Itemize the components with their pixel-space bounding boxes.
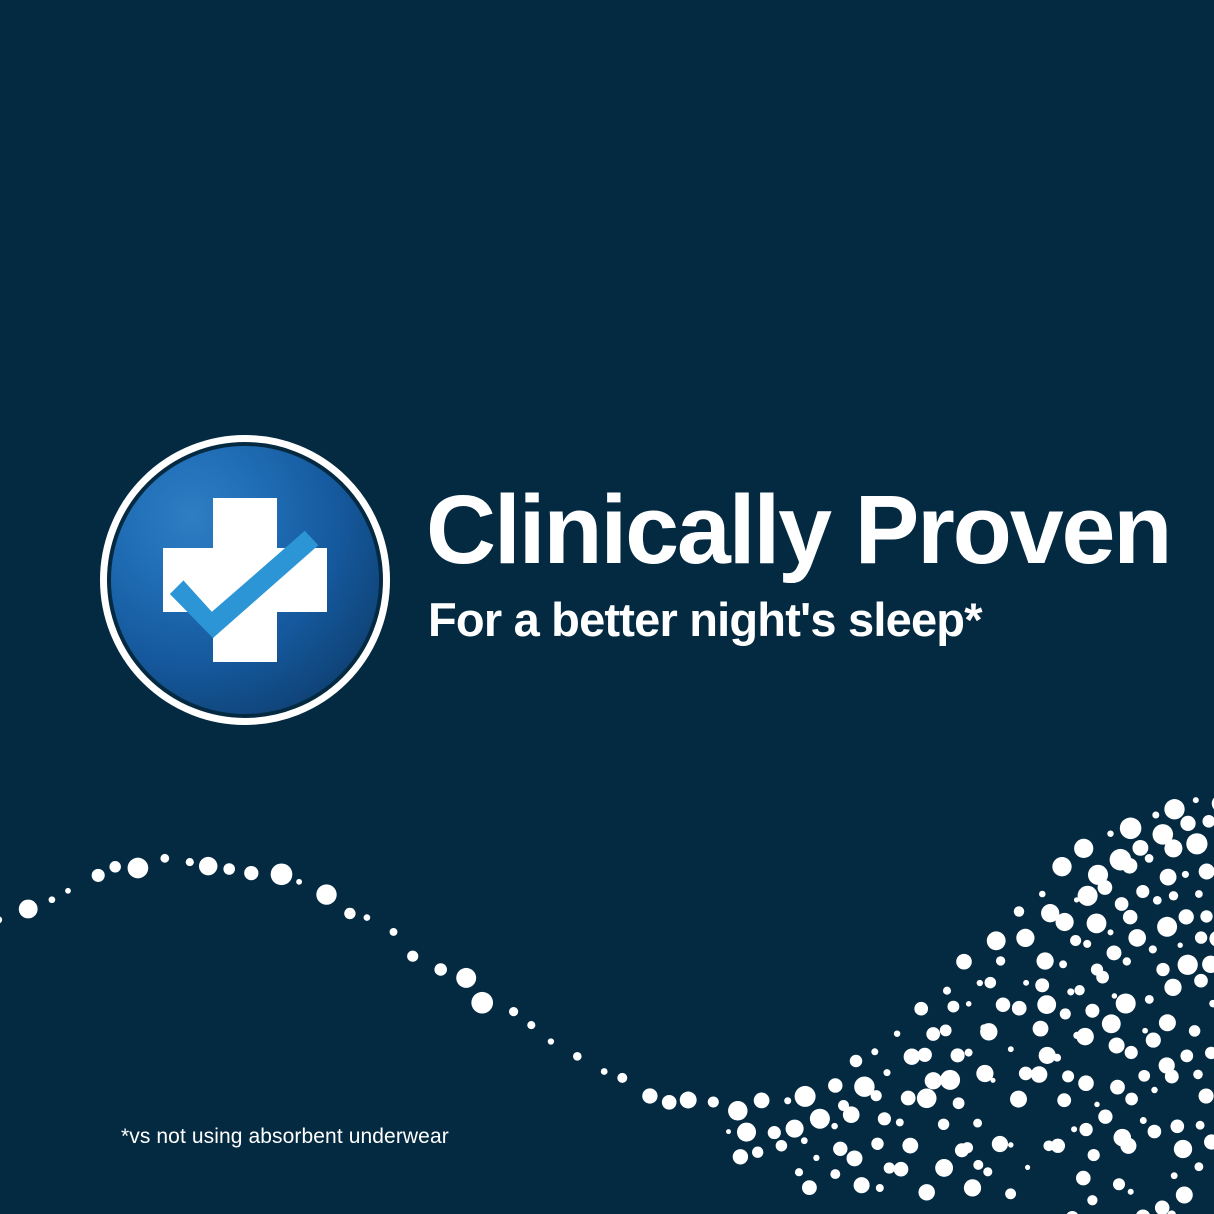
wave-dot [1112, 993, 1118, 999]
footnote-disclaimer: *vs not using absorbent underwear [121, 1126, 449, 1147]
wave-dot [244, 866, 258, 880]
wave-dot [548, 1038, 554, 1044]
wave-dot [1052, 857, 1071, 876]
wave-dot [1122, 858, 1138, 874]
wave-dot [1098, 880, 1113, 895]
wave-dot [876, 1184, 884, 1192]
wave-dot [65, 888, 71, 894]
wave-dot [1202, 956, 1214, 973]
wave-dot [1123, 957, 1131, 965]
wave-dot [1041, 904, 1059, 922]
wave-dot [1165, 1070, 1179, 1084]
wave-dot [1209, 1000, 1214, 1008]
wave-dot [1036, 952, 1053, 969]
wave-dot [726, 1129, 731, 1134]
wave-dot [987, 931, 1006, 950]
wave-dot [1136, 1210, 1151, 1214]
wave-dot [1193, 797, 1199, 803]
wave-dot [1128, 1189, 1134, 1195]
wave-dot [925, 1072, 942, 1089]
wave-dot [1088, 1149, 1100, 1161]
wave-dot [1114, 1129, 1132, 1147]
wave-dot [1125, 1046, 1138, 1059]
wave-dot [1005, 1188, 1016, 1199]
wave-dot [1189, 1025, 1200, 1036]
wave-dot [854, 1076, 874, 1096]
wave-dot [955, 1143, 969, 1157]
wave-dot [1125, 1093, 1138, 1106]
wave-dot [1180, 1050, 1193, 1063]
wave-dot [1195, 931, 1207, 943]
wave-dot [642, 1088, 657, 1103]
wave-dot [1176, 1187, 1193, 1204]
wave-dot [1087, 914, 1107, 934]
wave-dot [1043, 1140, 1054, 1151]
wave-dot [1033, 1021, 1049, 1037]
wave-dot [1059, 960, 1067, 968]
wave-dot [1076, 1028, 1093, 1045]
wave-dot [1180, 816, 1195, 831]
wave-dot [884, 1162, 895, 1173]
medical-cross-check-icon [100, 435, 390, 725]
wave-dot [1123, 910, 1138, 925]
wave-dot [1164, 799, 1184, 819]
wave-dot [296, 879, 302, 885]
wave-dot [1053, 1054, 1061, 1062]
wave-dot [1151, 1087, 1157, 1093]
wave-dot [1199, 1088, 1214, 1103]
wave-dot [1060, 1008, 1071, 1019]
wave-dot [1113, 1178, 1125, 1190]
wave-dot [896, 1118, 904, 1126]
wave-dot [1194, 1162, 1203, 1171]
wave-dot [1057, 1093, 1071, 1107]
wave-dot [977, 980, 983, 986]
wave-dot [926, 1027, 940, 1041]
wave-dot [1010, 1091, 1027, 1108]
wave-dot [1164, 839, 1182, 857]
wave-dot [976, 1065, 993, 1082]
wave-dot [1109, 1037, 1125, 1053]
wave-dot [390, 928, 398, 936]
wave-dot [1152, 812, 1159, 819]
wave-dot [948, 1001, 960, 1013]
wave-dot [1037, 995, 1056, 1014]
wave-dot [776, 1140, 787, 1151]
wave-dot [1088, 865, 1108, 885]
wave-dot [1159, 1014, 1176, 1031]
wave-dot [1078, 1075, 1094, 1091]
wave-dot [19, 900, 38, 919]
wave-dot [708, 1096, 719, 1107]
wave-dot [1182, 871, 1189, 878]
wave-dot [1200, 910, 1212, 922]
wave-dot [1136, 885, 1149, 898]
wave-dot [904, 1049, 920, 1065]
wave-dot [833, 1142, 847, 1156]
wave-dot [1145, 995, 1154, 1004]
wave-dot [199, 857, 217, 875]
wave-dot [1012, 1001, 1027, 1016]
wave-dot [1014, 906, 1024, 916]
wave-dot [917, 1088, 937, 1108]
wave-dot [1078, 886, 1098, 906]
wave-dot [1025, 1165, 1030, 1170]
wave-dot [1051, 1139, 1065, 1153]
wave-dot [990, 1078, 995, 1083]
wave-dot [966, 1001, 972, 1007]
wave-dot [1031, 1066, 1048, 1083]
wave-dot [1194, 974, 1208, 988]
wave-dot [965, 1049, 973, 1057]
wave-dot [956, 954, 972, 970]
wave-dot [1153, 896, 1162, 905]
wave-dot [1035, 978, 1049, 992]
wave-dot [316, 884, 336, 904]
wave-dot [1178, 955, 1198, 975]
wave-dot [1071, 1126, 1077, 1132]
wave-dot [1138, 1070, 1150, 1082]
wave-dot [802, 1180, 817, 1195]
wave-dot [964, 1179, 981, 1196]
wave-dot [1062, 1070, 1074, 1082]
wave-dot [847, 1150, 863, 1166]
wave-dot [1079, 1123, 1092, 1136]
wave-dot [1209, 931, 1214, 947]
wave-dot [813, 1155, 819, 1161]
wave-dot [1128, 929, 1146, 947]
wave-dot [1120, 1138, 1136, 1154]
wave-dot [1193, 1070, 1203, 1080]
wave-dot [1167, 1210, 1176, 1214]
wave-dot [996, 956, 1005, 965]
wave-dot [830, 1169, 840, 1179]
wave-dot [662, 1095, 677, 1110]
wave-dot [980, 1023, 997, 1040]
wave-dot [1070, 935, 1081, 946]
wave-dot [938, 1119, 949, 1130]
cross-shape [163, 498, 327, 662]
wave-dot [871, 1048, 878, 1055]
wave-dot [617, 1073, 627, 1083]
wave-dot [962, 1142, 973, 1153]
wave-dot [801, 1137, 808, 1144]
wave-dot [1083, 940, 1091, 948]
wave-dot [1096, 971, 1109, 984]
wave-dot [831, 1123, 838, 1130]
wave-dot [1076, 1171, 1091, 1186]
wave-dot [1148, 1125, 1162, 1139]
wave-dot [1157, 917, 1177, 937]
wave-dot [680, 1092, 697, 1109]
wave-dot [271, 863, 293, 885]
wave-dot [1039, 1047, 1056, 1064]
wave-dot [1110, 849, 1132, 871]
wave-dot [0, 916, 2, 923]
wave-dot [1085, 1004, 1099, 1018]
wave-dot [109, 861, 121, 873]
wave-dot [1132, 840, 1148, 856]
wave-dot [810, 1109, 830, 1129]
wave-dot [871, 1090, 882, 1101]
wave-dot [1170, 1119, 1184, 1133]
wave-dot [1074, 839, 1093, 858]
wave-dot [1159, 1057, 1175, 1073]
wave-dot [918, 1048, 932, 1062]
wave-dot [878, 1112, 891, 1125]
wave-dot [980, 1024, 987, 1031]
wave-dot [918, 1184, 934, 1200]
wave-dot [894, 1030, 900, 1036]
wave-dot [1108, 929, 1114, 935]
wave-dot [737, 1123, 756, 1142]
wave-dot [768, 1126, 781, 1139]
wave-dot [364, 914, 371, 921]
wave-dot [1149, 945, 1157, 953]
page-title: Clinically Proven [426, 481, 1170, 578]
wave-dot [1155, 1201, 1170, 1214]
wave-dot [49, 896, 56, 903]
wave-dot [1067, 988, 1074, 995]
wave-dot [1056, 913, 1074, 931]
wave-dot [786, 1120, 804, 1138]
wave-dot [456, 968, 476, 988]
wave-dot [186, 858, 194, 866]
wave-dot [509, 1007, 518, 1016]
wave-dot [752, 1147, 763, 1158]
wave-dot [407, 951, 418, 962]
wave-dot [940, 1025, 952, 1037]
wave-dot [733, 1149, 748, 1164]
wave-dot [1174, 1140, 1192, 1158]
wave-dot [160, 854, 169, 863]
wave-dot [1115, 897, 1129, 911]
wave-dot [838, 1100, 849, 1111]
wave-dot [951, 1048, 965, 1062]
wave-dot [843, 1106, 860, 1123]
wave-dot [1008, 1142, 1013, 1147]
wave-dot [983, 1167, 992, 1176]
clinically-proven-seal [100, 435, 390, 725]
wave-dot [883, 1069, 890, 1076]
wave-dot [1107, 945, 1122, 960]
wave-dot [1199, 863, 1214, 879]
wave-dot [1178, 943, 1183, 948]
wave-dot [850, 1055, 862, 1067]
wave-dot [973, 1119, 982, 1128]
wave-dot [1204, 1134, 1214, 1149]
wave-dot [1091, 964, 1103, 976]
wave-dot [1146, 1033, 1161, 1048]
wave-dot [902, 1138, 918, 1154]
wave-dot [1102, 1014, 1121, 1033]
wave-dot [1164, 979, 1181, 996]
wave-dot [223, 863, 235, 875]
wave-dot [1107, 830, 1113, 836]
wave-dot [1169, 891, 1178, 900]
wave-dot [1153, 824, 1174, 845]
wave-dot [1120, 818, 1142, 840]
wave-dot [871, 1138, 883, 1150]
wave-dot [754, 1093, 770, 1109]
wave-dot [1171, 1172, 1178, 1179]
wave-dot [601, 1068, 608, 1075]
wave-dot [1074, 897, 1079, 902]
wave-dot [1156, 963, 1169, 976]
wave-dot [1142, 1028, 1148, 1034]
wave-dot [914, 1002, 928, 1016]
wave-dot [1205, 1047, 1214, 1059]
page-subtitle: For a better night's sleep* [428, 596, 982, 643]
wave-dot [894, 1162, 909, 1177]
wave-dot [1116, 993, 1136, 1013]
wave-dot [943, 987, 951, 995]
wave-dot [1196, 1121, 1205, 1130]
wave-dot [1019, 1067, 1033, 1081]
wave-dot [1016, 929, 1034, 947]
wave-dot [1074, 985, 1084, 995]
wave-dot [1039, 891, 1046, 898]
wave-dot [92, 869, 105, 882]
wave-dot [795, 1086, 816, 1107]
wave-dot [128, 858, 149, 879]
wave-dot [1145, 854, 1154, 863]
wave-dot [985, 977, 997, 989]
wave-dot [1140, 1117, 1147, 1124]
clinically-proven-graphic: Clinically Proven For a better night's s… [0, 0, 1214, 1214]
wave-dot [573, 1052, 582, 1061]
wave-dot [828, 1078, 842, 1092]
wave-dot [1202, 815, 1214, 828]
wave-dot [901, 1091, 916, 1106]
wave-dot [1195, 890, 1203, 898]
wave-dot [1023, 980, 1029, 986]
wave-dot [1179, 909, 1194, 924]
wave-dot [1098, 1110, 1112, 1124]
wave-dot [471, 992, 493, 1014]
wave-dot [1160, 869, 1177, 886]
wave-dot [1087, 1195, 1097, 1205]
wave-dot [953, 1097, 965, 1109]
wave-dot [434, 963, 447, 976]
wave-dot [973, 1160, 983, 1170]
wave-dot [1094, 1102, 1099, 1107]
wave-dot [992, 1136, 1008, 1152]
wave-dot [795, 1168, 803, 1176]
wave-dot [996, 998, 1010, 1012]
wave-dot [1073, 1032, 1080, 1039]
wave-dot [784, 1097, 791, 1104]
wave-dot [527, 1021, 535, 1029]
wave-dot [1008, 1046, 1014, 1052]
wave-dot [728, 1101, 748, 1121]
wave-dot [1186, 833, 1207, 854]
wave-dot [854, 1177, 870, 1193]
wave-dot [935, 1159, 953, 1177]
wave-dot [1110, 1080, 1125, 1095]
wave-dot [940, 1070, 960, 1090]
wave-dot [344, 908, 355, 919]
